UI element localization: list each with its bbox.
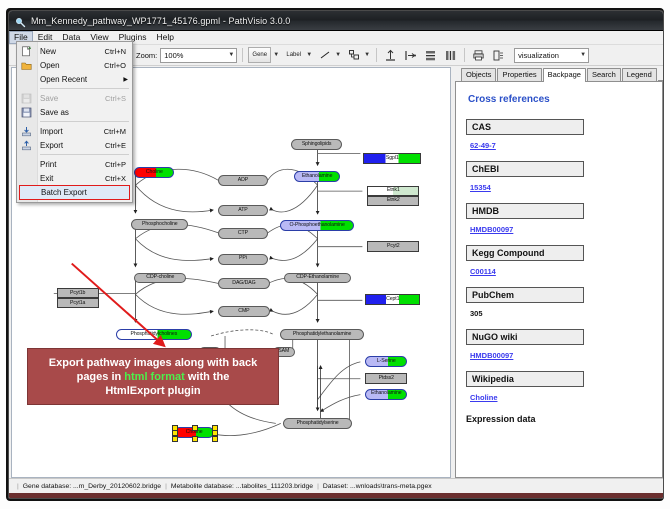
xref-value: 305 <box>470 309 483 318</box>
selection-handle[interactable] <box>212 430 218 436</box>
status-metabolite-database: Metabolite database: ...tabolites_111203… <box>171 483 313 490</box>
node-label: Sphingolipids <box>302 142 332 147</box>
gene-node[interactable]: Pcyt2 <box>367 241 419 252</box>
node-label: ADP <box>238 178 248 183</box>
node-label: Etnk2 <box>387 198 400 203</box>
selection-handle[interactable] <box>172 430 178 436</box>
metabolite-node[interactable]: Phosphatidylserine <box>283 418 353 429</box>
backpage-panel: Cross references CAS62-49-7ChEBI15354HMD… <box>455 82 663 478</box>
node-label: Pcyt2 <box>387 244 399 249</box>
xref-value-row: C00114 <box>466 261 652 284</box>
metabolite-node[interactable]: CDP-Ethanolamine <box>284 273 352 284</box>
file-menu-label: Save as <box>40 108 132 117</box>
sidebar-tabs[interactable]: Objects Properties Backpage Search Legen… <box>455 67 663 82</box>
file-menu-label: Import <box>40 127 104 136</box>
node-label: Choline <box>186 430 203 435</box>
node-label: Ethanolamine <box>371 391 402 396</box>
metabolite-node[interactable]: Sphingolipids <box>291 139 343 150</box>
status-gene-database: Gene database: ...m_Derby_20120602.bridg… <box>23 483 161 490</box>
metabolite-node[interactable]: L-Serine <box>365 356 407 367</box>
shape-tool-icon[interactable] <box>345 47 362 64</box>
file-menu-accelerator: Ctrl+S <box>105 94 132 103</box>
node-label: Phosphatidylserine <box>297 421 339 426</box>
file-menu-label: Save <box>40 94 105 103</box>
file-menu-item-import[interactable]: ImportCtrl+M <box>17 124 132 138</box>
callout-annotation: Export pathway images along with back pa… <box>27 348 279 405</box>
selection-handle[interactable] <box>212 436 218 442</box>
node-label: SAM <box>278 349 289 354</box>
zoom-label: Zoom: <box>136 51 157 60</box>
sidebar: Objects Properties Backpage Search Legen… <box>455 66 663 478</box>
file-menu-label: Open <box>40 61 104 70</box>
xref-source-header: ChEBI <box>466 161 584 177</box>
tab-filler <box>658 80 663 81</box>
metabolite-node[interactable]: CDP-choline <box>134 273 186 284</box>
file-menu-label: Open Recent <box>40 75 132 84</box>
file-menu-item-print[interactable]: PrintCtrl+P <box>17 157 132 171</box>
metabolite-node[interactable]: ATP <box>218 205 268 216</box>
metabolite-node[interactable]: PPi <box>218 254 268 265</box>
folder-icon <box>21 60 32 71</box>
node-label: Cept1 <box>386 297 399 302</box>
status-dataset: Dataset: ...wnloads\trans-meta.pgex <box>323 483 432 490</box>
selection-handle[interactable] <box>192 425 198 431</box>
file-menu-separator <box>40 154 129 155</box>
file-menu-separator <box>40 121 129 122</box>
callout-line1: Export pathway images along with back <box>49 357 257 369</box>
window-bottom-edge <box>9 493 663 498</box>
file-menu-item-open[interactable]: OpenCtrl+O <box>17 58 132 72</box>
file-menu-item-save: SaveCtrl+S <box>17 91 132 105</box>
file-menu-accelerator: Ctrl+N <box>105 47 132 56</box>
chevron-down-icon: ▼ <box>228 52 234 58</box>
gene-node[interactable]: Etnk1 <box>367 186 419 196</box>
callout-line2-a: pages in <box>77 371 125 383</box>
file-menu-item-batch-export[interactable]: Batch Export <box>19 185 130 200</box>
tab-backpage[interactable]: Backpage <box>543 68 586 82</box>
cross-references-title: Cross references <box>468 94 652 105</box>
desktop-background: Mm_Kennedy_pathway_WP1771_45176.gpml - P… <box>0 0 670 509</box>
file-menu-item-open-recent[interactable]: Open Recent▶ <box>17 72 132 86</box>
node-label: CTP <box>238 231 248 236</box>
file-menu-label: Batch Export <box>41 188 129 197</box>
title-bar: Mm_Kennedy_pathway_WP1771_45176.gpml - P… <box>9 11 663 31</box>
node-label: Phosphatidylethanolamine <box>293 332 351 337</box>
node-label: Ethanolamine <box>302 174 333 179</box>
metabolite-node[interactable]: Phosphatidylcholines <box>116 329 193 340</box>
file-menu-item-export[interactable]: ExportCtrl+E <box>17 138 132 152</box>
xref-link[interactable]: Choline <box>470 393 498 402</box>
toolbar-separator <box>376 48 377 62</box>
metabolite-node[interactable]: Choline <box>134 167 174 178</box>
new-file-icon <box>21 46 32 57</box>
file-menu-item-new[interactable]: NewCtrl+N <box>17 44 132 58</box>
xref-source-header: HMDB <box>466 203 584 219</box>
zoom-combo[interactable]: 100% ▼ <box>160 48 237 63</box>
chevron-down-icon[interactable]: ▼ <box>273 52 279 58</box>
zoom-value: 100% <box>164 51 183 60</box>
xref-value-row: HMDB00097 <box>466 219 652 242</box>
expression-data-heading: Expression data <box>466 414 652 424</box>
status-divider: | <box>165 483 167 490</box>
status-divider: | <box>17 483 19 490</box>
visualization-combo[interactable]: visualization ▼ <box>514 48 589 63</box>
chevron-down-icon: ▼ <box>580 52 586 58</box>
align-left-icon[interactable] <box>402 47 419 64</box>
xref-link[interactable]: 15354 <box>470 183 491 192</box>
xref-value-row: 305 <box>466 303 652 326</box>
selection-handle[interactable] <box>172 436 178 442</box>
selection-handle[interactable] <box>192 436 198 442</box>
visualization-value: visualization <box>518 51 559 60</box>
node-label: CDP-choline <box>146 275 174 280</box>
chevron-down-icon[interactable]: ▼ <box>364 52 370 58</box>
distribute-horizontal-icon[interactable] <box>442 47 459 64</box>
node-label: PPi <box>239 256 247 261</box>
line-tool-icon[interactable] <box>316 47 333 64</box>
tab-legend[interactable]: Legend <box>622 68 657 81</box>
chevron-down-icon[interactable]: ▼ <box>306 52 312 58</box>
file-menu-label: Print <box>40 160 105 169</box>
node-label: CMP <box>238 309 249 314</box>
print-icon[interactable] <box>470 47 487 64</box>
gene-node[interactable]: Pcyt1a <box>57 298 99 308</box>
gene-tool-button[interactable]: Gene <box>248 47 271 63</box>
save-icon <box>21 93 32 104</box>
file-menu-item-save-as[interactable]: Save as <box>17 105 132 119</box>
xref-link[interactable]: 62-49-7 <box>470 141 496 150</box>
export-icon <box>21 140 32 151</box>
node-label: Ptdss2 <box>379 376 394 381</box>
pathvisio-window: Mm_Kennedy_pathway_WP1771_45176.gpml - P… <box>8 10 664 499</box>
xref-value-row: 62-49-7 <box>466 135 652 158</box>
file-menu-label: Exit <box>40 174 105 183</box>
file-menu-accelerator: Ctrl+M <box>104 127 132 136</box>
file-menu-accelerator: Ctrl+X <box>105 174 132 183</box>
node-label: L-Serine <box>377 359 396 364</box>
toolbar-separator <box>242 48 243 62</box>
status-bar: | Gene database: ...m_Derby_20120602.bri… <box>9 478 663 493</box>
file-menu-accelerator: Ctrl+O <box>104 61 132 70</box>
xref-link[interactable]: C00114 <box>470 267 496 276</box>
file-menu-accelerator: Ctrl+P <box>105 160 132 169</box>
xref-source-header: CAS <box>466 119 584 135</box>
tab-objects[interactable]: Objects <box>461 68 496 81</box>
file-menu-popup[interactable]: NewCtrl+NOpenCtrl+OOpen Recent▶SaveCtrl+… <box>16 41 133 203</box>
node-label: Phosphatidylcholines <box>130 332 177 337</box>
metabolite-node[interactable]: Phosphatidylethanolamine <box>280 329 365 340</box>
gene-node[interactable]: Ptdss2 <box>365 373 407 384</box>
cross-reference-list: CAS62-49-7ChEBI15354HMDBHMDB00097Kegg Co… <box>466 119 652 410</box>
node-label: O-Phosphoethanolamine <box>289 223 344 228</box>
xref-link[interactable]: HMDB00097 <box>470 225 513 234</box>
node-label: Phosphocholine <box>142 222 178 227</box>
xref-source-header: Kegg Compound <box>466 245 584 261</box>
file-menu-label: Export <box>40 141 105 150</box>
tab-search[interactable]: Search <box>587 68 621 81</box>
align-top-icon[interactable] <box>382 47 399 64</box>
metabolite-node[interactable]: O-Phosphoethanolamine <box>280 220 355 231</box>
chevron-down-icon[interactable]: ▼ <box>335 52 341 58</box>
node-label: Pcyt1a <box>70 301 85 306</box>
metabolite-node[interactable]: ADP <box>218 175 268 186</box>
file-menu-item-exit[interactable]: ExitCtrl+X <box>17 171 132 185</box>
distribute-vertical-icon[interactable] <box>422 47 439 64</box>
gene-node[interactable]: Pcyt1b <box>57 288 99 298</box>
status-divider: | <box>317 483 319 490</box>
node-label: DAG/DAG <box>232 281 255 286</box>
toolbar-separator <box>464 48 465 62</box>
callout-highlight: html format <box>124 371 185 383</box>
node-label: CDP-Ethanolamine <box>296 275 339 280</box>
node-label: Choline <box>146 170 163 175</box>
metabolite-node[interactable]: CTP <box>218 228 268 239</box>
file-menu-label: New <box>40 47 105 56</box>
xref-source-header: Wikipedia <box>466 371 584 387</box>
gene-node[interactable]: Cept1 <box>365 294 420 305</box>
label-tool-button[interactable]: Label <box>283 48 304 62</box>
properties-icon[interactable] <box>490 47 507 64</box>
xref-link[interactable]: HMDB00097 <box>470 351 513 360</box>
file-menu-separator <box>40 88 129 89</box>
import-icon <box>21 126 32 137</box>
gene-node[interactable]: Sgpl1 <box>363 153 421 164</box>
menu-help[interactable]: Help <box>152 31 179 44</box>
metabolite-node[interactable]: Ethanolamine <box>365 389 407 400</box>
xref-value-row: HMDB00097 <box>466 345 652 368</box>
save-as-icon <box>21 107 32 118</box>
node-label: Etnk1 <box>387 188 400 193</box>
submenu-arrow-icon: ▶ <box>123 76 128 83</box>
metabolite-node[interactable]: Phosphocholine <box>131 219 188 230</box>
window-title: Mm_Kennedy_pathway_WP1771_45176.gpml - P… <box>31 16 290 26</box>
xref-value-row: 15354 <box>466 177 652 200</box>
metabolite-node[interactable]: CMP <box>218 306 270 317</box>
tab-properties[interactable]: Properties <box>497 68 541 81</box>
gene-node[interactable]: Etnk2 <box>367 196 419 206</box>
pathvisio-icon <box>15 15 26 26</box>
metabolite-node[interactable]: DAG/DAG <box>218 278 270 289</box>
file-menu-accelerator: Ctrl+E <box>105 141 132 150</box>
metabolite-node[interactable]: Ethanolamine <box>294 171 341 182</box>
node-label: ATP <box>238 208 247 213</box>
node-label: Pcyt1b <box>70 291 85 296</box>
callout-line2-b: with the <box>185 371 230 383</box>
xref-source-header: PubChem <box>466 287 584 303</box>
node-label: Sgpl1 <box>386 156 399 161</box>
xref-source-header: NuGO wiki <box>466 329 584 345</box>
callout-line3: HtmlExport plugin <box>105 385 200 397</box>
xref-value-row: Choline <box>466 387 652 410</box>
